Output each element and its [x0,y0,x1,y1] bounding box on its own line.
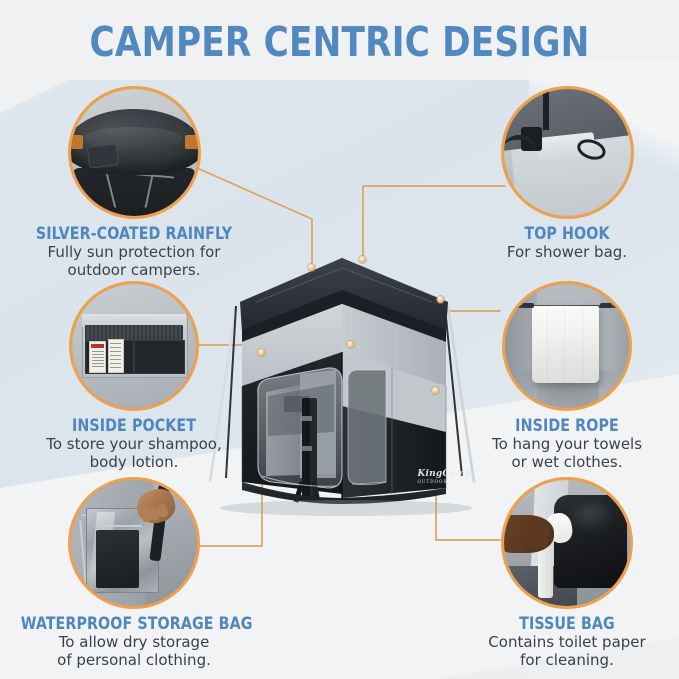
towel-on-rope-photo [502,281,632,411]
top-hook-caption: TOP HOOK For shower bag. [455,224,679,262]
waterproof-storage-bag-caption: WATERPROOF STORAGE BAG To allow dry stor… [16,614,252,669]
waterproof-storage-bag-desc-line2: of personal clothing. [16,652,252,670]
tissue-bag-photo [501,477,633,609]
infographic-canvas: CAMPER CENTRIC DESIGN [0,0,679,679]
tissue-bag-heading: TISSUE BAG [459,614,674,633]
connector-dot-inside-pocket [347,341,354,348]
inside-pocket-organizer-photo [69,281,199,411]
tissue-bag-desc-line2: for cleaning. [455,652,679,670]
inside-pocket-heading: INSIDE POCKET [26,416,241,435]
inside-rope-desc-line1: To hang your towels [455,436,679,454]
top-hook-desc-line1: For shower bag. [455,244,679,262]
callout-top-hook: TOP HOOK For shower bag. [455,86,679,262]
top-hook-photo [501,86,634,219]
inside-rope-caption: INSIDE ROPE To hang your towels or wet c… [455,416,679,471]
connector-dot-storage-bag [258,349,265,356]
silver-coated-rainfly-photo [68,86,201,219]
waterproof-storage-bag-photo [68,477,200,609]
inside-pocket-desc-line2: body lotion. [22,454,246,472]
connector-dot-inside-rope [437,296,444,303]
silver-coated-rainfly-heading: SILVER-COATED RAINFLY [26,224,241,243]
callout-waterproof-storage-bag: WATERPROOF STORAGE BAG To allow dry stor… [16,477,252,669]
callout-inside-rope: INSIDE ROPE To hang your towels or wet c… [455,281,679,471]
silver-coated-rainfly-desc-line1: Fully sun protection for [22,244,246,262]
callout-silver-coated-rainfly: SILVER-COATED RAINFLY Fully sun protecti… [22,86,246,279]
connector-dot-tissue-bag [432,387,439,394]
silver-coated-rainfly-desc-line2: outdoor campers. [22,262,246,280]
tissue-bag-caption: TISSUE BAG Contains toilet paper for cle… [455,614,679,669]
tissue-bag-desc-line1: Contains toilet paper [455,634,679,652]
inside-rope-heading: INSIDE ROPE [459,416,674,435]
callout-tissue-bag: TISSUE BAG Contains toilet paper for cle… [455,477,679,669]
top-hook-heading: TOP HOOK [459,224,674,243]
connector-dot-rainfly [308,264,315,271]
connector-dot-top-hook [359,256,366,263]
callout-inside-pocket: INSIDE POCKET To store your shampoo, bod… [22,281,246,471]
waterproof-storage-bag-heading: WATERPROOF STORAGE BAG [21,614,248,633]
silver-coated-rainfly-caption: SILVER-COATED RAINFLY Fully sun protecti… [22,224,246,279]
inside-rope-desc-line2: or wet clothes. [455,454,679,472]
waterproof-storage-bag-desc-line1: To allow dry storage [16,634,252,652]
inside-pocket-desc-line1: To store your shampoo, [22,436,246,454]
inside-pocket-caption: INSIDE POCKET To store your shampoo, bod… [22,416,246,471]
